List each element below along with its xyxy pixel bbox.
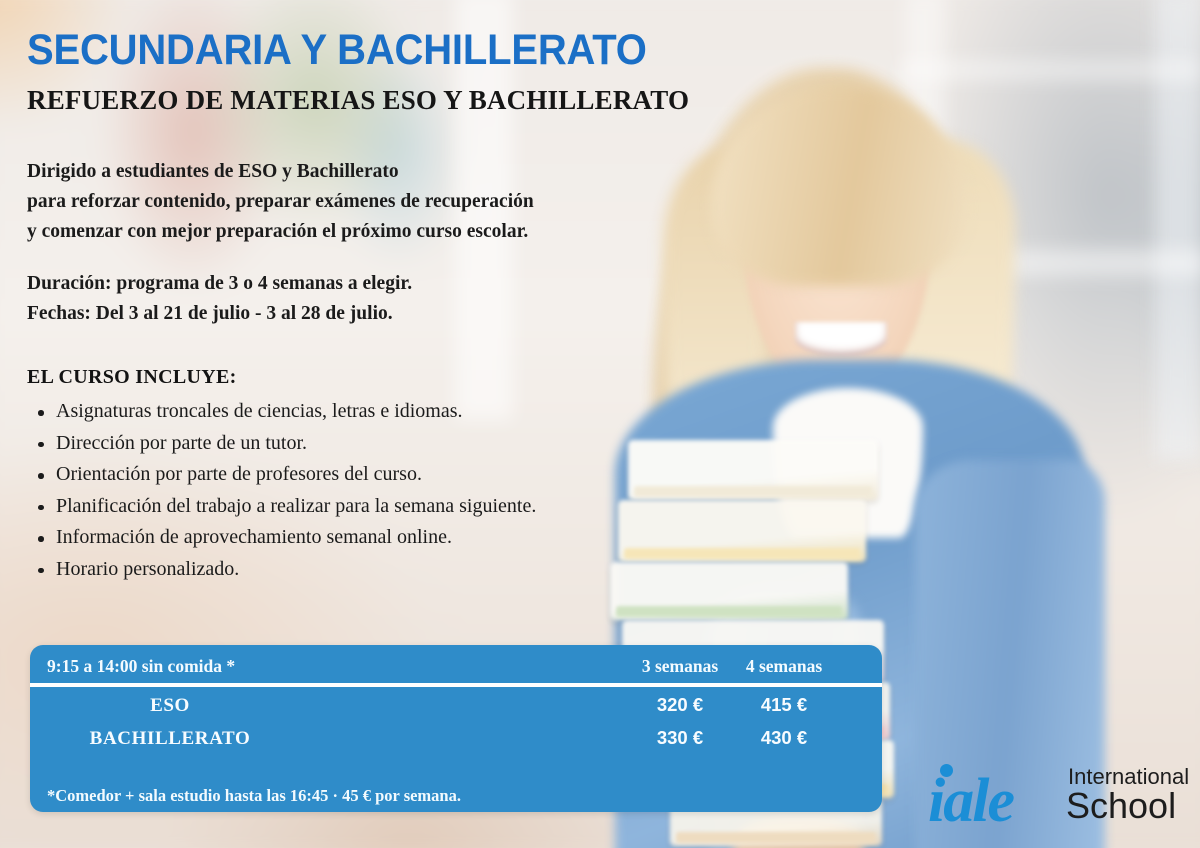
price-bachillerato-4-weeks: 430 € — [730, 727, 838, 749]
list-item: Orientación por parte de profesores del … — [33, 459, 536, 491]
includes-list: Asignaturas troncales de ciencias, letra… — [33, 396, 536, 585]
poster-root: SECUNDARIA Y BACHILLERATO REFUERZO DE MA… — [0, 0, 1200, 848]
price-eso-4-weeks: 415 € — [730, 694, 838, 716]
price-table-body: ESO 320 € 415 € BACHILLERATO 330 € 430 € — [30, 687, 882, 753]
list-item: Información de aprovechamiento semanal o… — [33, 522, 536, 554]
list-item: Planificación del trabajo a realizar par… — [33, 491, 536, 523]
duration-dates-paragraph: Duración: programa de 3 o 4 semanas a el… — [27, 269, 412, 329]
price-eso-3-weeks: 320 € — [626, 694, 734, 716]
row-label-eso: ESO — [30, 695, 310, 717]
price-table: 9:15 a 14:00 sin comida * 3 semanas 4 se… — [30, 645, 882, 812]
intro-line: para reforzar contenido, preparar exámen… — [27, 187, 534, 217]
list-item: Horario personalizado. — [33, 554, 536, 586]
logo-wordmark: iale — [928, 770, 1013, 832]
page-title: SECUNDARIA Y BACHILLERATO — [27, 29, 647, 72]
price-table-header-row: 9:15 a 14:00 sin comida * 3 semanas 4 se… — [30, 645, 882, 683]
includes-heading: EL CURSO INCLUYE: — [27, 366, 237, 389]
column-header-4-weeks: 4 semanas — [730, 656, 838, 677]
intro-paragraph: Dirigido a estudiantes de ESO y Bachille… — [27, 157, 534, 247]
row-label-bachillerato: BACHILLERATO — [30, 728, 310, 750]
page-subtitle: REFUERZO DE MATERIAS ESO Y BACHILLERATO — [27, 87, 689, 114]
table-row: BACHILLERATO 330 € 430 € — [30, 720, 882, 753]
iale-international-school-logo: iale International School — [928, 758, 1186, 840]
intro-line: y comenzar con mejor preparación el próx… — [27, 217, 534, 247]
column-header-3-weeks: 3 semanas — [626, 656, 734, 677]
intro-line: Dirigido a estudiantes de ESO y Bachille… — [27, 157, 534, 187]
list-item: Asignaturas troncales de ciencias, letra… — [33, 396, 536, 428]
duration-line: Duración: programa de 3 o 4 semanas a el… — [27, 269, 412, 299]
logo-line-school: School — [1066, 787, 1176, 825]
price-bachillerato-3-weeks: 330 € — [626, 727, 734, 749]
list-item: Dirección por parte de un tutor. — [33, 428, 536, 460]
poster-content: SECUNDARIA Y BACHILLERATO REFUERZO DE MA… — [0, 0, 1200, 848]
dates-line: Fechas: Del 3 al 21 de julio - 3 al 28 d… — [27, 299, 412, 329]
schedule-label: 9:15 a 14:00 sin comida * — [47, 656, 235, 677]
price-table-footnote: *Comedor + sala estudio hasta las 16:45 … — [47, 786, 461, 806]
table-row: ESO 320 € 415 € — [30, 687, 882, 720]
logo-i-dot — [940, 764, 953, 777]
